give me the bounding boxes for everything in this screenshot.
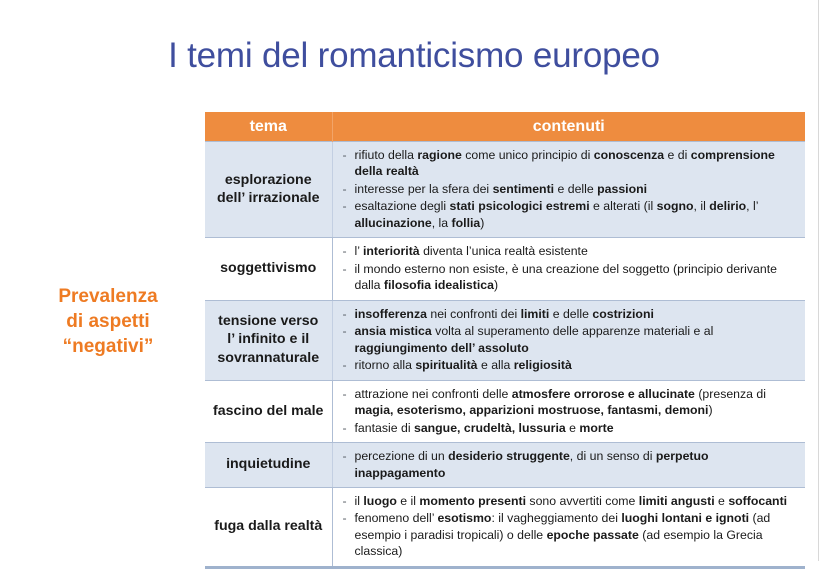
side-caption-line-1: Prevalenza — [24, 284, 192, 309]
bullet-list: l’ interiorità diventa l’unica realtà es… — [342, 243, 798, 293]
bullet-item: fenomeno dell’ esotismo: il vagheggiamen… — [342, 510, 798, 559]
bullet-item: il mondo esterno non esiste, è una creaz… — [342, 261, 798, 294]
content-cell: percezione di un desiderio struggente, d… — [332, 443, 805, 488]
side-caption-line-2: di aspetti — [24, 309, 192, 334]
bullet-item: esaltazione degli stati psicologici estr… — [342, 198, 798, 231]
bullet-item: insofferenza nei confronti dei limiti e … — [342, 306, 798, 322]
bullet-item: interesse per la sfera dei sentimenti e … — [342, 181, 798, 197]
theme-cell: fuga dalla realtà — [205, 487, 332, 567]
bullet-item: percezione di un desiderio struggente, d… — [342, 448, 798, 481]
theme-cell: soggettivismo — [205, 238, 332, 300]
theme-cell: tensione versol’ infinito e ilsovrannatu… — [205, 300, 332, 380]
column-header-contenuti: contenuti — [332, 112, 805, 142]
bullet-list: insofferenza nei confronti dei limiti e … — [342, 306, 798, 374]
theme-label-line: inquietudine — [209, 455, 328, 473]
table-row: fascino del maleattrazione nei confronti… — [205, 380, 805, 442]
bullet-item: ritorno alla spiritualità e alla religio… — [342, 357, 798, 373]
table-header: tema contenuti — [205, 112, 805, 142]
table-header-row: tema contenuti — [205, 112, 805, 142]
content-cell: il luogo e il momento presenti sono avve… — [332, 487, 805, 567]
page-title: I temi del romanticismo europeo — [0, 37, 828, 76]
table-row: fuga dalla realtàil luogo e il momento p… — [205, 487, 805, 567]
themes-table: tema contenuti esplorazionedell’ irrazio… — [205, 112, 805, 569]
bullet-list: percezione di un desiderio struggente, d… — [342, 448, 798, 481]
theme-label-line: soggettivismo — [209, 259, 328, 277]
theme-label-line: sovrannaturale — [209, 349, 328, 367]
content-cell: l’ interiorità diventa l’unica realtà es… — [332, 238, 805, 300]
theme-label-line: tensione verso — [209, 312, 328, 330]
table-row: esplorazionedell’ irrazionalerifiuto del… — [205, 142, 805, 238]
bullet-list: rifiuto della ragione come unico princip… — [342, 147, 798, 231]
slide-canvas: I temi del romanticismo europeo Prevalen… — [0, 0, 828, 561]
theme-label-line: fascino del male — [209, 402, 328, 420]
theme-label-line: fuga dalla realtà — [209, 517, 328, 535]
theme-label-line: l’ infinito e il — [209, 330, 328, 348]
bullet-item: rifiuto della ragione come unico princip… — [342, 147, 798, 180]
bullet-item: attrazione nei confronti delle atmosfere… — [342, 386, 798, 419]
table-body: esplorazionedell’ irrazionalerifiuto del… — [205, 142, 805, 568]
theme-label-line: dell’ irrazionale — [209, 189, 328, 207]
side-caption-line-3: “negativi” — [24, 334, 192, 359]
side-caption: Prevalenza di aspetti “negativi” — [24, 284, 192, 359]
content-cell: rifiuto della ragione come unico princip… — [332, 142, 805, 238]
bullet-item: l’ interiorità diventa l’unica realtà es… — [342, 243, 798, 259]
bullet-item: ansia mistica volta al superamento delle… — [342, 323, 798, 356]
bullet-list: attrazione nei confronti delle atmosfere… — [342, 386, 798, 436]
content-cell: insofferenza nei confronti dei limiti e … — [332, 300, 805, 380]
bullet-list: il luogo e il momento presenti sono avve… — [342, 493, 798, 560]
table-row: tensione versol’ infinito e ilsovrannatu… — [205, 300, 805, 380]
theme-cell: fascino del male — [205, 380, 332, 442]
column-header-tema: tema — [205, 112, 332, 142]
theme-cell: inquietudine — [205, 443, 332, 488]
page-edge-rule — [818, 0, 819, 561]
bullet-item: fantasie di sangue, crudeltà, lussuria e… — [342, 420, 798, 436]
table-row: inquietudinepercezione di un desiderio s… — [205, 443, 805, 488]
theme-label-line: esplorazione — [209, 171, 328, 189]
bullet-item: il luogo e il momento presenti sono avve… — [342, 493, 798, 509]
content-cell: attrazione nei confronti delle atmosfere… — [332, 380, 805, 442]
table-row: soggettivismol’ interiorità diventa l’un… — [205, 238, 805, 300]
theme-cell: esplorazionedell’ irrazionale — [205, 142, 332, 238]
